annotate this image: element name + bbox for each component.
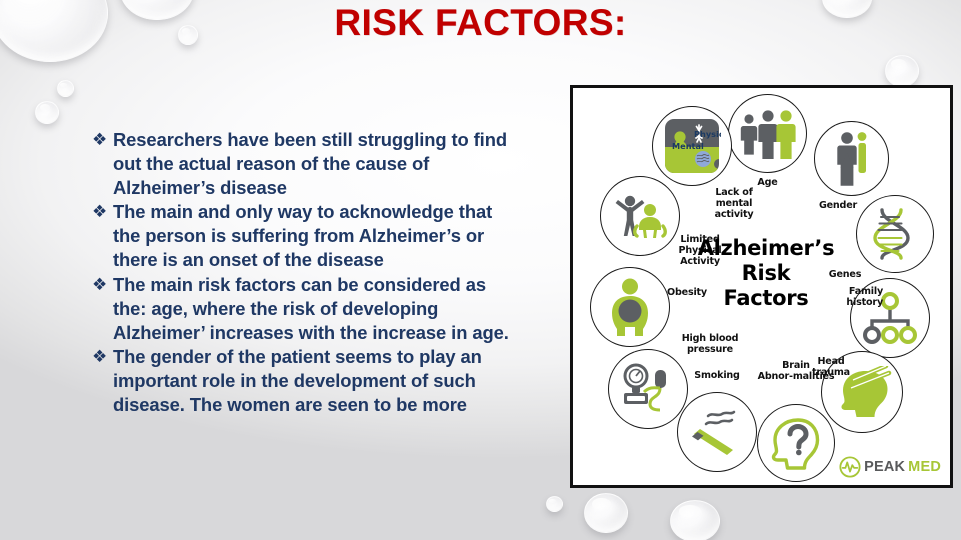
node-smoking [677,392,757,472]
node-gender [814,121,889,196]
diamond-bullet-icon: ❖ [92,200,113,224]
age-icon [739,109,797,159]
svg-text:Physical: Physical [694,129,721,139]
droplet-decoration [885,55,919,87]
list-item: ❖ The main and only way to acknowledge t… [92,200,512,272]
svg-text:Mental: Mental [672,141,704,151]
diamond-bullet-icon: ❖ [92,273,113,297]
node-genes [856,195,934,273]
bullet-text: Researchers have been still struggling t… [113,128,512,200]
gender-icon [831,131,873,187]
node-age [728,94,807,173]
puzzle-brain-icon: Physical Mental [663,117,721,175]
droplet-decoration [584,493,628,533]
list-item: ❖ The gender of the patient seems to pla… [92,345,512,417]
page-title: RISK FACTORS: [0,2,961,44]
dna-genes-icon [869,206,921,262]
blood-pressure-cuff-icon [620,362,676,416]
brain-question-icon [768,416,824,470]
bullet-text: The main and only way to acknowledge tha… [113,200,512,272]
diamond-bullet-icon: ❖ [92,128,113,152]
droplet-decoration [670,500,720,540]
droplet-decoration [546,496,563,512]
bullet-text: The gender of the patient seems to play … [113,345,512,417]
node-lack-of-mental-activity: Physical Mental [652,106,732,186]
node-label-lack-of-mental-activity: Lack of mental activity [694,187,774,220]
droplet-decoration [57,80,74,97]
peakmed-logo: PEAKMED [839,456,941,478]
node-label-brain-abnormalities: Brain Abnor-malities [751,360,841,382]
brand-peak-text: PEAK [864,459,905,475]
infographic-canvas: Age Gender [573,88,950,485]
peakmed-mark-icon [839,456,861,478]
bullet-text: The main risk factors can be considered … [113,273,512,345]
obesity-icon [604,278,656,336]
infographic-center-title: Alzheimer’s Risk Factors [691,236,841,311]
cigarette-icon [688,406,746,458]
list-item: ❖ The main risk factors can be considere… [92,273,512,345]
list-item: ❖ Researchers have been still struggling… [92,128,512,200]
bullet-list: ❖ Researchers have been still struggling… [92,128,512,417]
droplet-decoration [35,101,59,124]
node-obesity [590,267,670,347]
node-high-blood-pressure [608,349,688,429]
node-label-high-blood-pressure: High blood pressure [665,333,755,355]
node-label-smoking: Smoking [681,370,753,381]
slide-canvas: RISK FACTORS: ❖ Researchers have been st… [0,0,961,540]
brand-med-text: MED [908,459,941,475]
node-brain-abnormalities [757,404,835,482]
diamond-bullet-icon: ❖ [92,345,113,369]
risk-factors-infographic: Age Gender [570,85,953,488]
